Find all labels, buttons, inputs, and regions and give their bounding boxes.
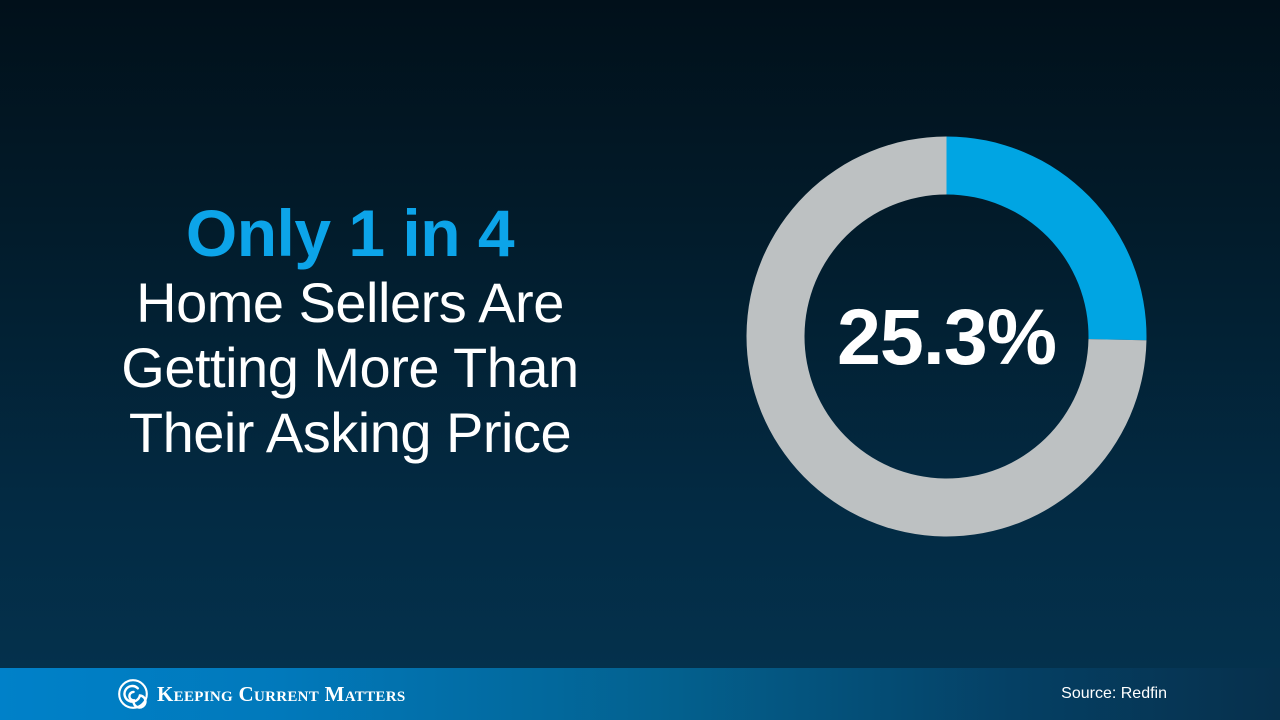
headline-accent-text: Only 1 in 4 xyxy=(0,196,700,270)
headline-line-2: Getting More Than xyxy=(0,335,700,400)
headline-line-1: Home Sellers Are xyxy=(0,270,700,335)
donut-chart: 25.3% xyxy=(746,136,1147,537)
source-attribution: Source: Redfin xyxy=(1061,685,1167,703)
spiral-swirl-icon xyxy=(118,679,148,709)
headline-line-3: Their Asking Price xyxy=(0,400,700,465)
brand-group[interactable]: Keeping Current Matters xyxy=(118,679,405,709)
infographic-slide: Only 1 in 4 Home Sellers Are Getting Mor… xyxy=(0,0,1280,720)
headline-block: Only 1 in 4 Home Sellers Are Getting Mor… xyxy=(0,196,700,465)
brand-name-text: Keeping Current Matters xyxy=(157,682,405,707)
footer-bar: Keeping Current Matters Source: Redfin xyxy=(0,668,1280,720)
donut-center-value: 25.3% xyxy=(746,136,1147,537)
